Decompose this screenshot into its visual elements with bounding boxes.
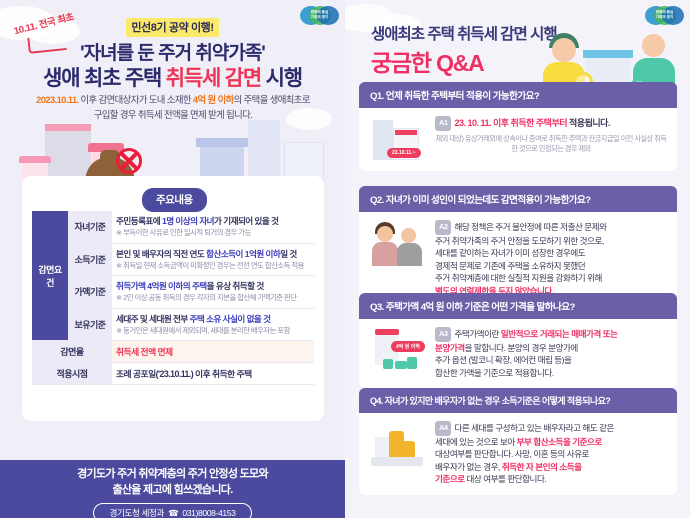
logo-line-2: 기회의 경기 [656,15,674,19]
logo-text: 변화의 중심 기회의 경기 [645,10,684,20]
person-b-body [397,243,422,266]
row-note: ※ 동거인은 세대원에서 제외되며, 세대를 분리한 배우자는 포함 [116,326,310,337]
date-value: 조례 공포일('23.10.11.) 이후 취득한 주택 [112,363,314,385]
money-block-3 [407,357,417,369]
row-main-a: 주민등록표에 [116,216,162,226]
answer-3-line3: 추가 옵션 (발코니 확장, 에어컨 매립 등)을 [435,355,571,365]
coin-stack-icon [369,421,427,471]
qa-block-2: Q2. 자녀가 이미 성인이 되었는데도 감면적용이 가능한가요? A2해당 정… [359,186,677,307]
two-people-icon [369,220,427,272]
table-row-content: 주민등록표에 1명 이상의 자녀가 기재되어 있을 것 ※ 부득이한 사유로 인… [112,211,314,243]
logo-text: 변화의 중심 기회의 경기 [300,10,339,20]
table-row-label: 소득기준 [68,243,112,276]
answer-lead-highlight: 23. 10. 11. 이후 취득한 주택부터 [454,118,567,128]
rate-label: 감면율 [32,341,112,363]
house-small-roof-icon [19,156,51,163]
left-panel: 10.11. 전국 최초 민선8기 공약 이행! '자녀를 둔 주거 취약가족'… [0,0,345,518]
apartment-money-icon: 4억 원 이하 [369,327,427,373]
subtext-1d: 의 주택을 생애최초로 [234,94,310,105]
footer-department: 경기도청 세정과 [110,508,165,518]
money-block-2 [395,361,407,369]
logo-line-1: 변화의 중심 [656,10,674,14]
table-group-label: 감면요건 [32,211,68,341]
table-row: 보유기준 세대주 및 세대원 전부 주택 소유 사실이 없을 것 ※ 동거인은 … [32,308,314,341]
row-main-a: 본인 및 배우자의 직전 연도 [116,249,206,259]
answer-4-body: A4다른 세대를 구성하고 있는 배우자라고 해도 같은 세대에 있는 것으로 … [359,413,677,495]
qa-title-secondary: 궁금한 Q&A [371,44,484,78]
table-row-label: 가액기준 [68,276,112,309]
row-main-highlight: 1명 이상의 자녀 [162,216,214,226]
subtext-date: 2023.10.11. [36,94,78,105]
answer-4-line2-highlight: 부부 합산소득을 기준으로 [517,437,602,447]
subtext-1b: 이후 감면대상자가 도내 소재한 [79,94,193,105]
phone-icon: ☎ [168,508,178,518]
answer-3-line1-highlight: 일반적으로 거래되는 매매가격 또는 [501,329,618,339]
illustration-building-roof-icon [583,50,633,58]
row-main-highlight: 합산소득이 1억원 이하 [206,249,280,259]
answer-1-note: 제외 대상) 유상거래외에 상속이나 증여로 취득한 주택과 잔금지급일 이전 … [435,134,667,155]
table-row: 가액기준 취득가액 4억원 이하의 주택을 유상 취득할 것 ※ 2인 이상 공… [32,276,314,309]
footer-contact-pill[interactable]: 경기도청 세정과 ☎ 031)8008-4153 [93,503,253,518]
gyeonggi-logo: 변화의 중심 기회의 경기 [300,6,338,26]
answer-tag: A2 [435,220,451,235]
answer-2-line-2: 주거 취약가족의 주거 안정을 도모하기 위한 것으로, [435,236,604,246]
answer-1-text: A123. 10. 11. 이후 취득한 주택부터 적용됩니다. 제외 대상) … [435,116,667,155]
answer-3-line1-a: 주택가액이란 [454,329,500,339]
table-row-label: 보유기준 [68,308,112,341]
row-main-highlight: 주택 소유 사실이 없을 것 [190,314,271,324]
building-house-roof-icon [196,138,248,147]
headline-primary: '자녀를 둔 주거 취약가족' [0,38,345,65]
main-content-pill: 주요내용 [142,188,207,212]
answer-3-text: A3주택가액이란 일반적으로 거래되는 매매가격 또는 분양가격을 말합니다. … [435,327,667,379]
answer-3-body: 4억 원 이하 A3주택가액이란 일반적으로 거래되는 매매가격 또는 분양가격… [359,319,677,388]
qa-block-4: Q4. 자녀가 있지만 배우자가 없는 경우 소득기준은 어떻게 적용되나요? … [359,388,677,495]
gyeonggi-logo: 변화의 중심 기회의 경기 [645,6,683,26]
qa-block-1: Q1. 언제 취득한 주택부터 적용이 가능한가요? 23.10.11.~ A1… [359,82,677,171]
subtext-line2: 구입할 경우 취득세 전액을 면제 받게 됩니다. [94,109,253,120]
no-tax-cross-icon [116,148,142,174]
table-row: 감면요건 자녀기준 주민등록표에 1명 이상의 자녀가 기재되어 있을 것 ※ … [32,211,314,243]
row-note: ※ 취득일 현재 소득금액이 미확정인 경우는 전전 연도 합산소득 적용 [116,261,310,272]
qa-block-3: Q3. 주택가액 4억 원 이하 기준은 어떤 가격을 말하나요? 4억 원 이… [359,293,677,388]
answer-3-line4: 합산한 가액을 기준으로 적용합니다. [435,368,554,378]
answer-4-line5-b: 대상 여부를 판단합니다. [465,474,547,484]
building-tall-icon [248,120,280,184]
subtext-amount: 4억 원 이하 [193,94,234,105]
answer-4-line5-highlight: 기준으로 [435,474,465,484]
person-b-head [401,228,416,243]
person-a-head [377,226,393,242]
footer-line-2: 출산율 제고에 힘쓰겠습니다. [112,484,232,496]
headline-secondary: 생애 최초 주택 취득세 감면 시행 [0,62,345,92]
footer-phone: 031)8008-4153 [182,508,235,518]
row-main-highlight: 취득가액 4억원 이하의 주택 [116,281,207,291]
answer-2-line-3: 세대를 같이하는 자녀가 이미 성장한 경우에도 [435,248,585,258]
person-a-body [372,242,398,266]
footer-message: 경기도가 주거 취약계층의 주거 안정성 도모와 출산율 제고에 힘쓰겠습니다. [0,460,345,498]
infographic-page: 10.11. 전국 최초 민선8기 공약 이행! '자녀를 둔 주거 취약가족'… [0,0,690,518]
coin-tray [371,457,423,466]
promise-tag: 민선8기 공약 이행! [126,18,218,37]
qa-title-primary: 생애최초 주택 취득세 감면 시행 [371,22,557,44]
apartment-icon [45,124,91,184]
answer-2-text: A2해당 정책은 주거 불안정에 따른 저출산 문제와 주거 취약가족의 주거 … [435,220,667,298]
headline-part-red: 취득세 감면 [166,67,261,90]
row-main-c: 일 것 [280,249,297,259]
row-main-c: 가 기재되어 있을 것 [214,216,278,226]
person-left-head-icon [552,38,576,62]
question-2-header: Q2. 자녀가 이미 성인이 되었는데도 감면적용이 가능한가요? [359,186,677,212]
money-block-1 [383,359,393,369]
row-main-text: 세대주 및 세대원 전부 주택 소유 사실이 없을 것 [116,313,310,325]
price-badge: 4억 원 이하 [391,341,425,352]
answer-4-line1: 다른 세대를 구성하고 있는 배우자라고 해도 같은 [454,423,613,433]
person-right-head-icon [642,34,665,57]
footer-line-1: 경기도가 주거 취약계층의 주거 안정성 도모와 [77,468,268,480]
logo-line-2: 기회의 경기 [311,15,329,19]
table-row-date: 적용시점 조례 공포일('23.10.11.) 이후 취득한 주택 [32,363,314,385]
question-4-header: Q4. 자녀가 있지만 배우자가 없는 경우 소득기준은 어떻게 적용되나요? [359,388,677,413]
row-main-text: 취득가액 4억원 이하의 주택을 유상 취득할 것 [116,280,310,292]
answer-lead-rest: 적용됩니다. [567,118,610,128]
row-main-a: 세대주 및 세대원 전부 [116,314,190,324]
answer-2-line-5: 주거 취약계층에 대한 실질적 지원을 강화하기 위해 [435,273,602,283]
requirements-table: 감면요건 자녀기준 주민등록표에 1명 이상의 자녀가 기재되어 있을 것 ※ … [32,211,314,385]
headline-part-a: 생애 최초 주택 [43,67,166,90]
rate-value: 취득세 전액 면제 [112,341,314,363]
calendar-header-shape [395,130,417,135]
answer-tag: A3 [435,327,451,342]
table-row-rate: 감면율 취득세 전액 면제 [32,341,314,363]
headline-subtext: 2023.10.11. 이후 감면대상자가 도내 소재한 4억 원 이하의 주택… [18,92,328,122]
row-note: ※ 2인 이상 공동 취득의 경우 각자의 지분을 합산해 가액기준 판단 [116,293,310,304]
answer-2-line-1: 해당 정책은 주거 불안정에 따른 저출산 문제와 [454,222,606,232]
answer-4-line2-a: 세대에 있는 것으로 보아 [435,437,517,447]
answer-1-body: 23.10.11.~ A123. 10. 11. 이후 취득한 주택부터 적용됩… [359,108,677,171]
date-label: 적용시점 [32,363,112,385]
logo-line-1: 변화의 중심 [311,10,329,14]
promise-tag-row: 민선8기 공약 이행! [0,18,345,37]
footer-banner: 경기도가 주거 취약계층의 주거 안정성 도모와 출산율 제고에 힘쓰겠습니다.… [0,460,345,518]
question-3-header: Q3. 주택가액 4억 원 이하 기준은 어떤 가격을 말하나요? [359,293,677,319]
answer-2-line-4: 경제적 문제로 기존에 주택을 소유하지 못했던 [435,261,585,271]
row-main-c: 을 유상 취득할 것 [207,281,264,291]
table-row-label: 자녀기준 [68,211,112,243]
answer-4-line3: 대상여부를 판단합니다. 사망, 이혼 등의 사유로 [435,449,589,459]
headline-part-b: 시행 [261,67,302,90]
row-main-text: 주민등록표에 1명 이상의 자녀가 기재되어 있을 것 [116,215,310,227]
answer-4-line4-highlight: 취득한 자 본인의 소득을 [502,462,582,472]
answer-tag: A1 [435,116,451,131]
answer-lead: 23. 10. 11. 이후 취득한 주택부터 적용됩니다. [454,118,609,128]
table-row-content: 취득가액 4억원 이하의 주택을 유상 취득할 것 ※ 2인 이상 공동 취득의… [112,276,314,309]
table-row-content: 세대주 및 세대원 전부 주택 소유 사실이 없을 것 ※ 동거인은 세대원에서… [112,308,314,341]
row-note: ※ 부득이한 사유로 인한 일시적 퇴거의 경우 가능 [116,228,310,239]
date-badge: 23.10.11.~ [387,148,421,158]
row-main-text: 본인 및 배우자의 직전 연도 합산소득이 1억원 이하일 것 [116,248,310,260]
answer-3-line2-b: 을 말합니다. 분양의 경우 분양가에 [465,343,578,353]
answer-3-line2-highlight: 분양가격 [435,343,465,353]
table-row: 소득기준 본인 및 배우자의 직전 연도 합산소득이 1억원 이하일 것 ※ 취… [32,243,314,276]
table-row-content: 본인 및 배우자의 직전 연도 합산소득이 1억원 이하일 것 ※ 취득일 현재… [112,243,314,276]
question-1-header: Q1. 언제 취득한 주택부터 적용이 가능한가요? [359,82,677,108]
right-panel: 생애최초 주택 취득세 감면 시행 궁금한 Q&A Q1. 언제 취득한 주택부… [345,0,690,518]
answer-4-line4-a: 배우자가 없는 경우, [435,462,502,472]
answer-4-text: A4다른 세대를 구성하고 있는 배우자라고 해도 같은 세대에 있는 것으로 … [435,421,667,486]
building-calendar-icon: 23.10.11.~ [369,116,427,162]
apartment-roof-icon [45,124,91,131]
answer-tag: A4 [435,421,451,436]
